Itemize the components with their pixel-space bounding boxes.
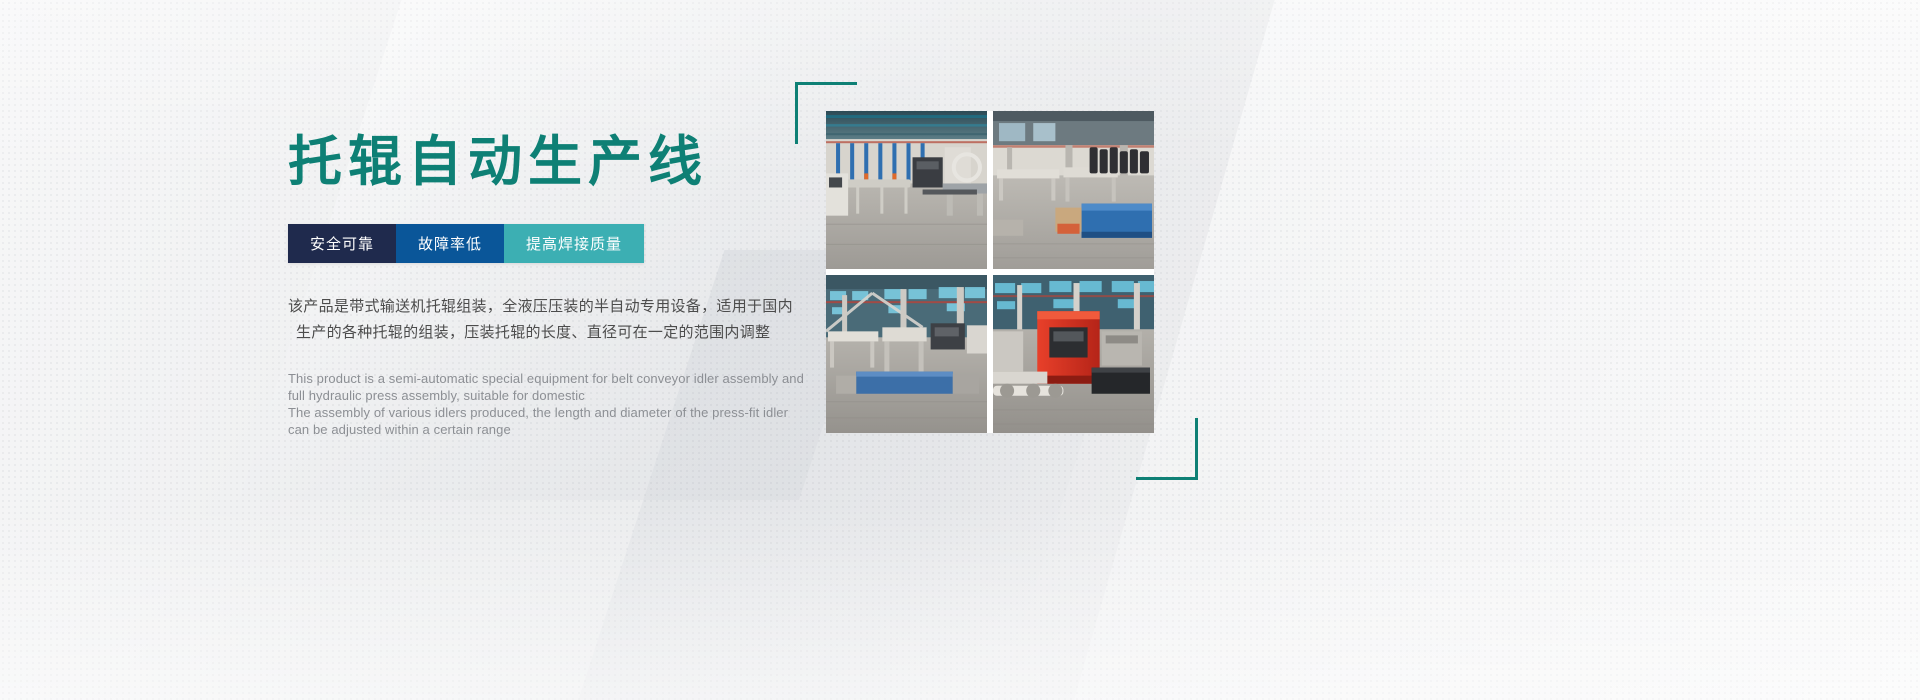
feature-tag-safety[interactable]: 安全可靠 [288,224,396,263]
description-chinese-line-2: 生产的各种托辊的组装，压装托辊的长度、直径可在一定的范围内调整 [288,320,758,346]
banner-text-column: 托辊自动生产线 安全可靠 故障率低 提高焊接质量 该产品是带式输送机托辊组装，全… [288,132,758,438]
page-title: 托辊自动生产线 [288,132,758,192]
gallery-photo-4[interactable] [993,275,1154,433]
feature-tag-low-failure-rate[interactable]: 故障率低 [396,224,504,263]
description-english-line-1: This product is a semi-automatic special… [288,370,758,387]
description-chinese-line-1: 该产品是带式输送机托辊组装，全液压压装的半自动专用设备，适用于国内 [288,294,758,320]
product-banner: 托辊自动生产线 安全可靠 故障率低 提高焊接质量 该产品是带式输送机托辊组装，全… [0,0,1920,700]
description-english: This product is a semi-automatic special… [288,370,758,438]
description-english-line-2: full hydraulic press assembly, suitable … [288,387,758,404]
gallery-photo-1[interactable] [826,111,987,269]
description-english-line-3: The assembly of various idlers produced,… [288,404,758,421]
description-chinese: 该产品是带式输送机托辊组装，全液压压装的半自动专用设备，适用于国内 生产的各种托… [288,294,758,346]
photo-gallery [795,82,1190,472]
feature-tag-weld-quality[interactable]: 提高焊接质量 [504,224,644,263]
gallery-photo-3[interactable] [826,275,987,433]
photo-grid [826,111,1154,433]
description-english-line-4: can be adjusted within a certain range [288,421,758,438]
feature-tag-row: 安全可靠 故障率低 提高焊接质量 [288,224,644,263]
gallery-photo-2[interactable] [993,111,1154,269]
